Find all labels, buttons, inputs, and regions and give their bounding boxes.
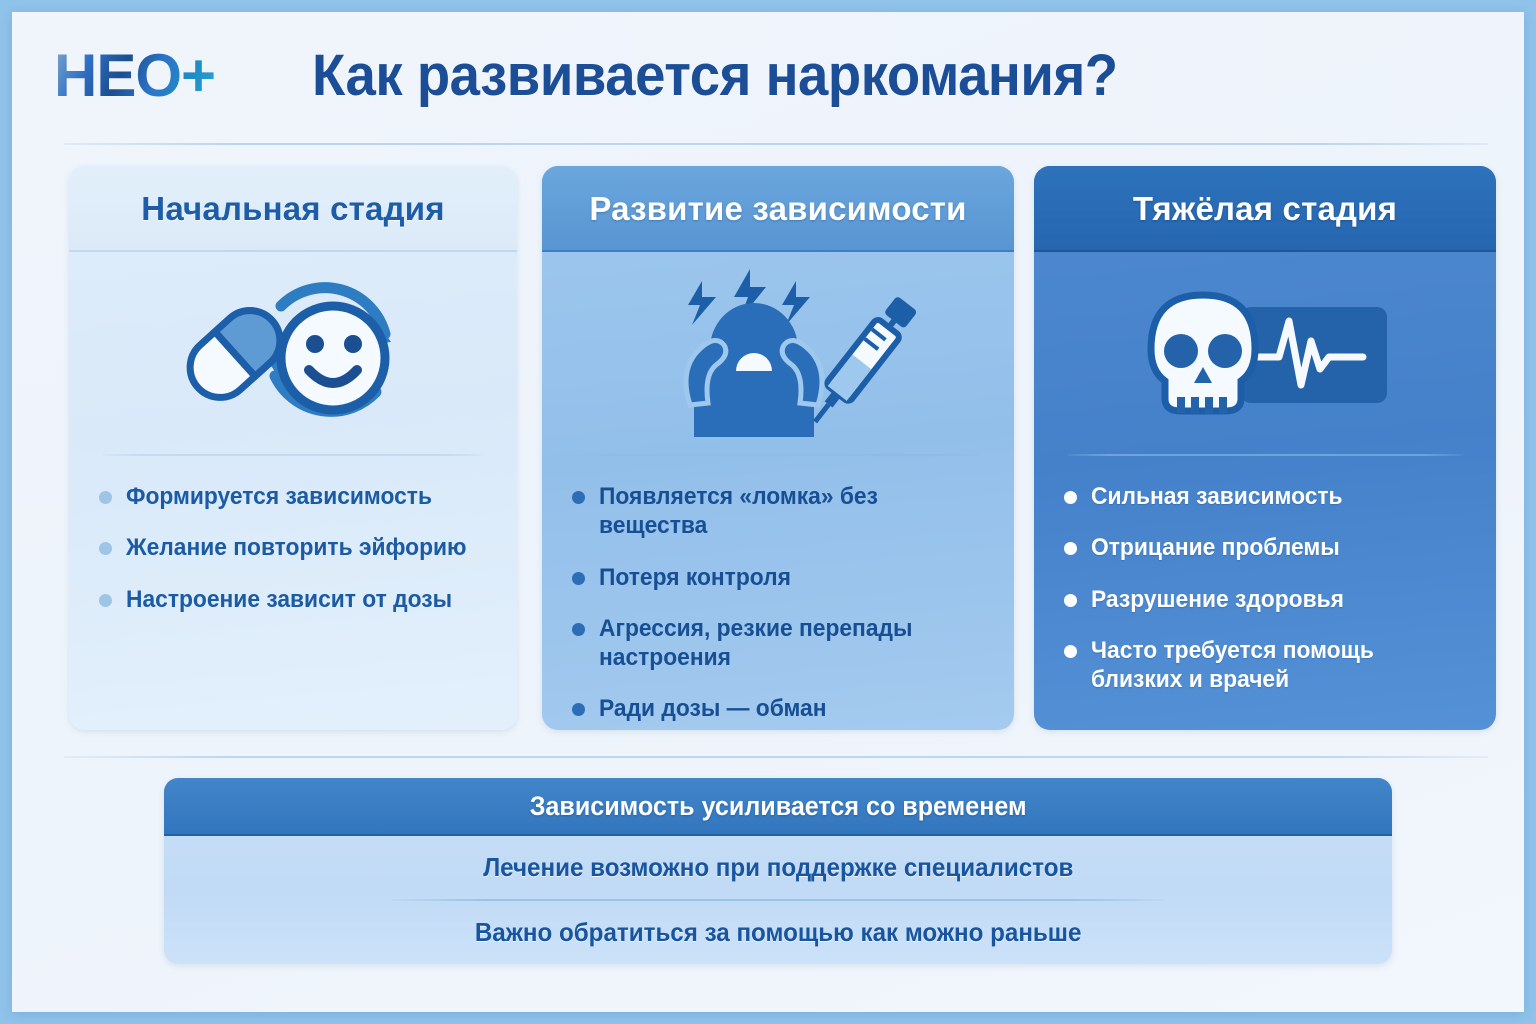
bullet-text: Потеря контроля xyxy=(599,563,791,592)
list-item: Отрицание проблемы xyxy=(1064,533,1466,562)
stages-row: Начальная стадия xyxy=(12,166,1524,732)
bullet-dot-icon xyxy=(1064,645,1077,658)
bullet-text: Настроение зависит от дозы xyxy=(126,585,452,614)
summary-panel[interactable]: Зависимость усиливается со временем Лече… xyxy=(164,778,1392,964)
list-item: Часто требуется помощь близких и врачей xyxy=(1064,636,1466,695)
bullet-text: Отрицание проблемы xyxy=(1091,533,1340,562)
pill-smiley-cycle-icon xyxy=(69,252,517,448)
header: HEO+ Как развивается наркомания? xyxy=(12,12,1524,134)
stage-card-development[interactable]: Развитие зависимости xyxy=(542,166,1014,730)
bullet-text: Ради дозы — обман и рискованные поступки xyxy=(599,694,881,730)
summary-row-text: Лечение возможно при поддержке специалис… xyxy=(483,852,1073,883)
stage-card-title: Начальная стадия xyxy=(141,190,444,228)
stage-card-bullets: Формируется зависимость Желание повторит… xyxy=(69,456,517,614)
bullet-text: Часто требуется помощь близких и врачей xyxy=(1091,636,1374,695)
stage-card-bullets: Появляется «ломка» без вещества Потеря к… xyxy=(542,456,1014,730)
summary-header: Зависимость усиливается со временем xyxy=(164,778,1392,836)
infographic-page: HEO+ Как развивается наркомания? Начальн… xyxy=(12,12,1524,1012)
stage-card-header: Тяжёлая стадия xyxy=(1034,166,1496,252)
page-title: Как развивается наркомания? xyxy=(312,42,1118,109)
stage-card-title: Тяжёлая стадия xyxy=(1133,190,1397,228)
bullet-dot-icon xyxy=(572,572,585,585)
stage-card-severe[interactable]: Тяжёлая стадия xyxy=(1034,166,1496,730)
summary-row: Важно обратиться за помощью как можно ра… xyxy=(164,901,1392,964)
list-item: Формируется зависимость xyxy=(99,482,487,511)
bullet-dot-icon xyxy=(1064,594,1077,607)
summary-divider xyxy=(64,756,1488,758)
bullet-text: Сильная зависимость xyxy=(1091,482,1343,511)
stage-card-title: Развитие зависимости xyxy=(589,190,966,228)
bullet-text: Агрессия, резкие перепады настроения xyxy=(599,614,965,673)
skull-ecg-icon xyxy=(1034,252,1496,448)
stage-card-header: Развитие зависимости xyxy=(542,166,1014,252)
stressed-person-syringe-icon xyxy=(542,252,1014,448)
list-item: Настроение зависит от дозы xyxy=(99,585,487,614)
list-item: Появляется «ломка» без вещества xyxy=(572,482,984,541)
bullet-text: Разрушение здоровья xyxy=(1091,585,1344,614)
bullet-dot-icon xyxy=(1064,542,1077,555)
list-item: Агрессия, резкие перепады настроения xyxy=(572,614,984,673)
neo-plus-logo: HEO+ xyxy=(54,46,215,106)
bullet-dot-icon xyxy=(572,623,585,636)
header-divider xyxy=(64,143,1488,145)
stage-card-initial[interactable]: Начальная стадия xyxy=(69,166,517,730)
list-item: Потеря контроля xyxy=(572,563,984,592)
summary-row: Лечение возможно при поддержке специалис… xyxy=(164,836,1392,899)
summary-row-text: Важно обратиться за помощью как можно ра… xyxy=(475,917,1082,948)
bullet-dot-icon xyxy=(99,491,112,504)
bullet-dot-icon xyxy=(1064,491,1077,504)
bullet-text: Желание повторить эйфорию xyxy=(126,533,467,562)
stage-card-header: Начальная стадия xyxy=(69,166,517,252)
summary-header-text: Зависимость усиливается со временем xyxy=(530,791,1027,822)
bullet-dot-icon xyxy=(99,594,112,607)
list-item: Ради дозы — обман и рискованные поступки xyxy=(572,694,984,730)
bullet-dot-icon xyxy=(572,703,585,716)
bullet-text: Формируется зависимость xyxy=(126,482,432,511)
list-item: Разрушение здоровья xyxy=(1064,585,1466,614)
list-item: Сильная зависимость xyxy=(1064,482,1466,511)
stage-card-bullets: Сильная зависимость Отрицание проблемы Р… xyxy=(1034,456,1496,694)
list-item: Желание повторить эйфорию xyxy=(99,533,487,562)
bullet-dot-icon xyxy=(572,491,585,504)
bullet-text: Появляется «ломка» без вещества xyxy=(599,482,965,541)
bullet-dot-icon xyxy=(99,542,112,555)
